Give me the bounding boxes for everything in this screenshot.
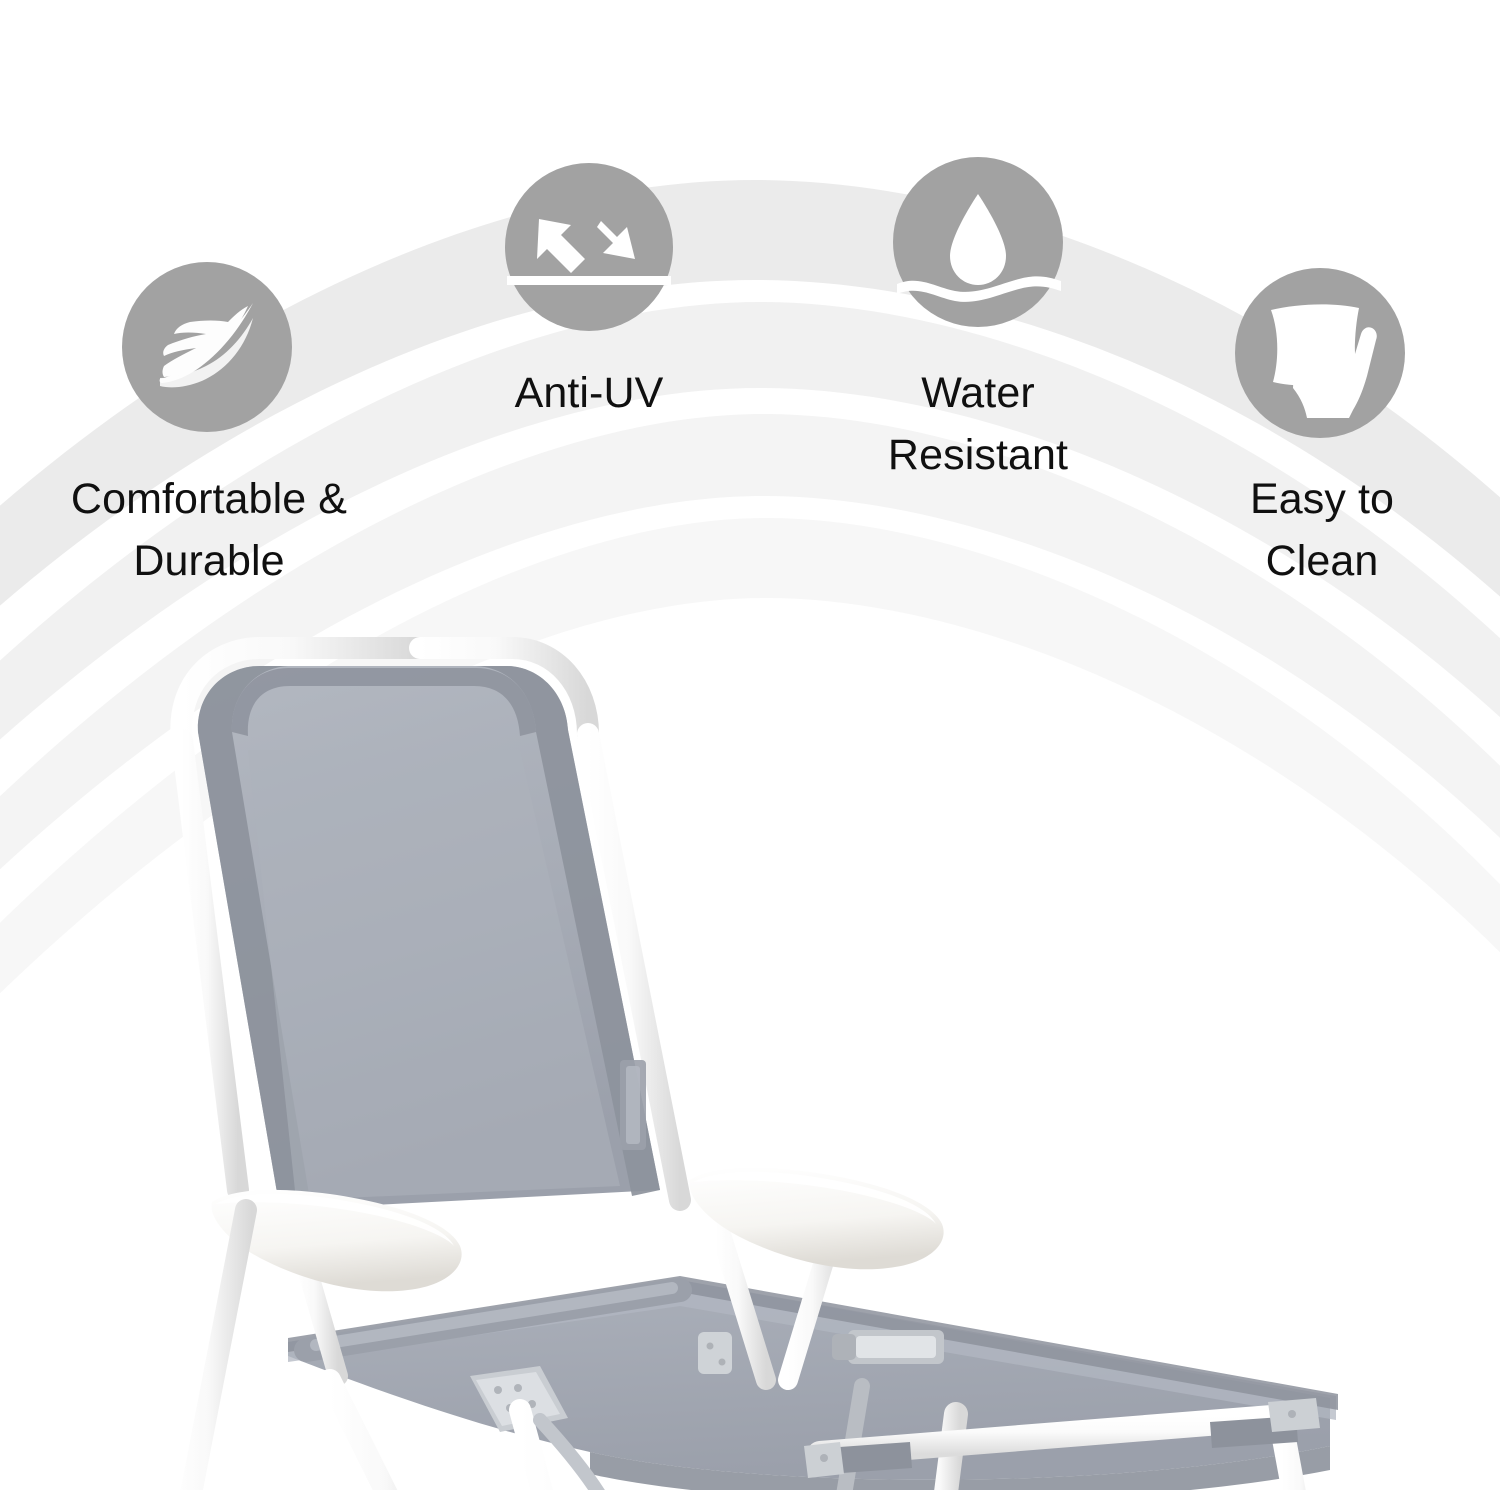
feather-icon [122, 262, 292, 432]
feature-label-water-resistant: Water Resistant [818, 362, 1138, 487]
feature-label-easy-to-clean: Easy to Clean [1168, 468, 1476, 593]
infographic-canvas: Comfortable & Durable Anti-UV [0, 0, 1500, 1500]
wipe-cloth-hand-icon [1235, 268, 1405, 438]
water-drop-icon [893, 157, 1063, 327]
feature-label-comfortable-durable: Comfortable & Durable [34, 468, 384, 593]
uv-rays-icon [505, 163, 673, 331]
product-image-folding-sun-lounger [120, 590, 1450, 1490]
feature-label-anti-uv: Anti-UV [424, 362, 754, 424]
